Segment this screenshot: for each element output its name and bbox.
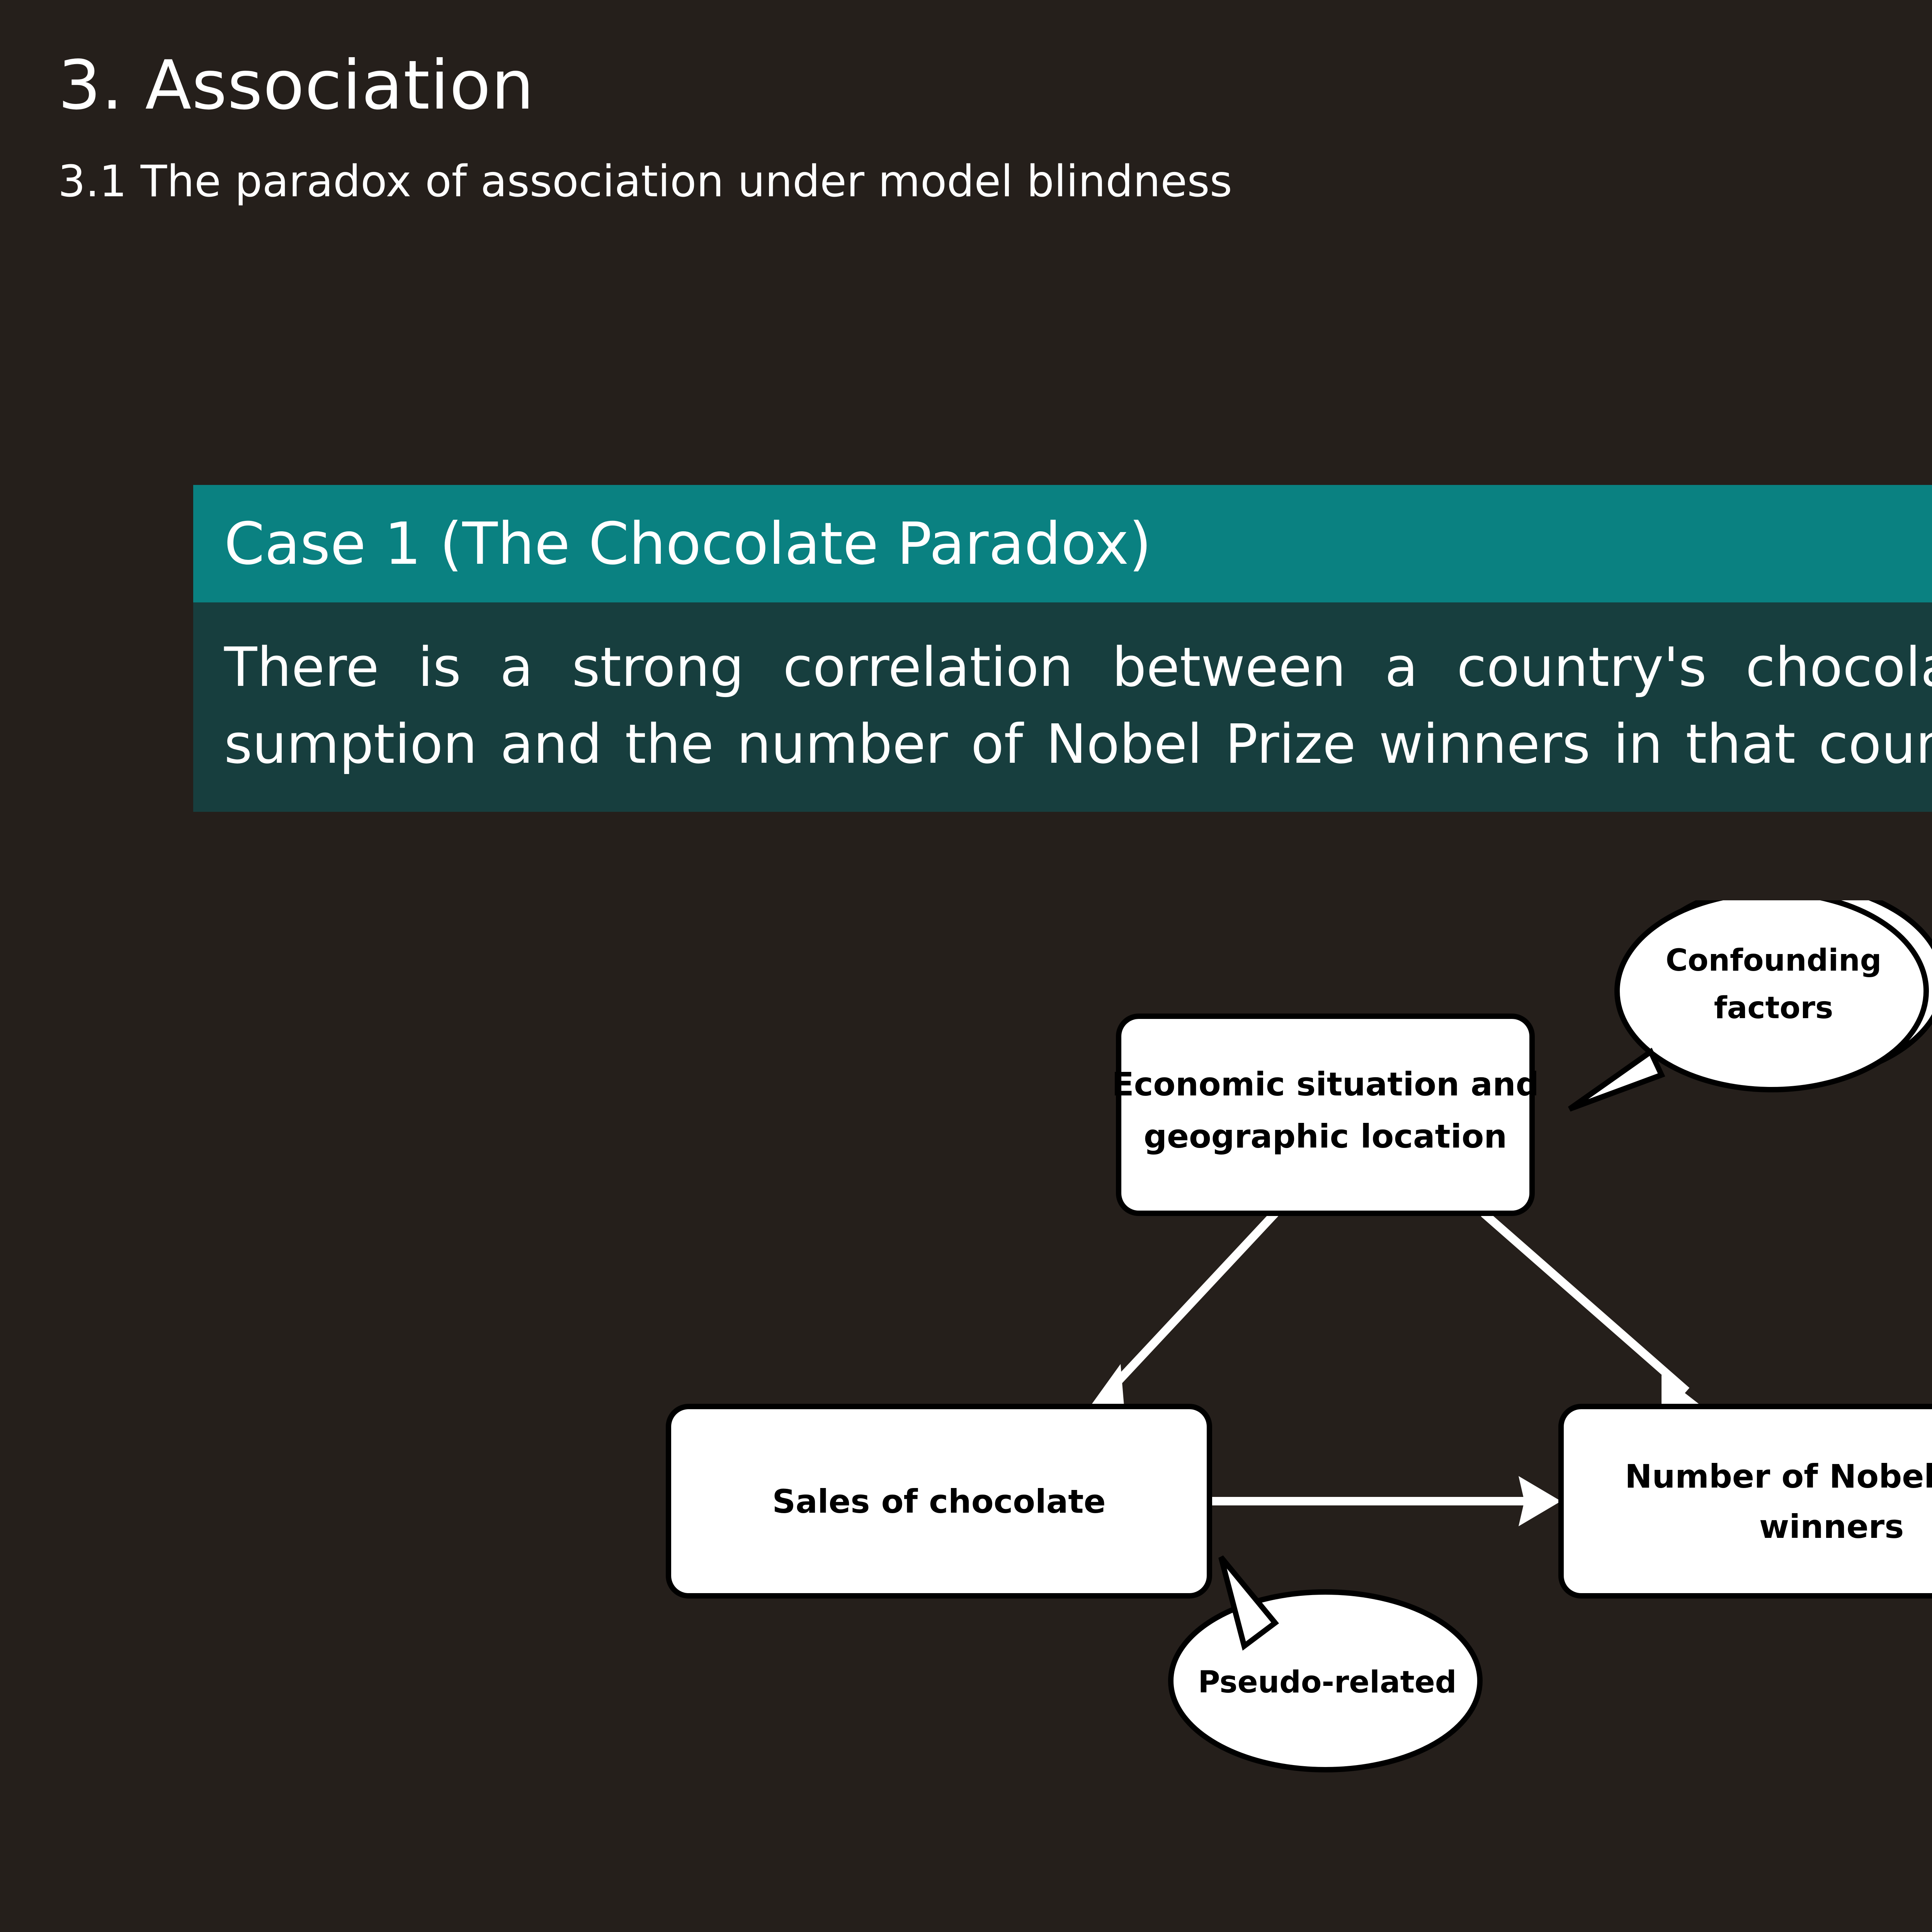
causal-diagram-svg: Economic situation and geographic locati… [618, 900, 1932, 1777]
node-outcome-label-1: Number of Nobel Prize [1625, 1458, 1932, 1495]
node-outcome-label-2: winners [1759, 1508, 1904, 1546]
subsection-title: 3.1 The paradox of association under mod… [58, 158, 1932, 206]
edge-confounder-to-treatment [1076, 1213, 1275, 1426]
case-block: Case 1 (The Chocolate Paradox) There is … [193, 485, 1932, 812]
node-confounder[interactable]: Economic situation and geographic locati… [1112, 1016, 1539, 1213]
node-confounder-label-2: geographic location [1144, 1117, 1507, 1155]
case-body-line-1: There is a strong correlation between a … [224, 629, 1932, 706]
bubble-confounding-factors-label-1: Confounding [1666, 943, 1882, 978]
bubble-confounding-factors: Confounding factors [1570, 900, 1932, 1109]
case-block-body: There is a strong correlation between a … [193, 602, 1932, 812]
node-treatment-label-1: Sales of chocolate [772, 1483, 1105, 1520]
bubble-pseudo-related: Pseudo-related [1171, 1557, 1480, 1770]
node-outcome[interactable]: Number of Nobel Prize winners [1561, 1406, 1932, 1596]
case-body-line-2: sumption and the number of Nobel Prize w… [224, 706, 1932, 783]
bubble-pseudo-related-label-1: Pseudo-related [1198, 1665, 1456, 1700]
node-treatment[interactable]: Sales of chocolate [668, 1406, 1209, 1596]
case-block-title: Case 1 (The Chocolate Paradox) [193, 485, 1932, 602]
page-title: 3. Association [58, 50, 1932, 121]
slide-header: 3. Association 3.1 The paradox of associ… [0, 0, 1932, 206]
causal-diagram: Economic situation and geographic locati… [618, 900, 1932, 1777]
node-confounder-label-1: Economic situation and [1112, 1065, 1539, 1103]
bubble-confounding-factors-label-2: factors [1714, 991, 1833, 1026]
edge-treatment-to-outcome [1209, 1476, 1561, 1526]
edge-confounder-to-outcome [1484, 1213, 1719, 1420]
